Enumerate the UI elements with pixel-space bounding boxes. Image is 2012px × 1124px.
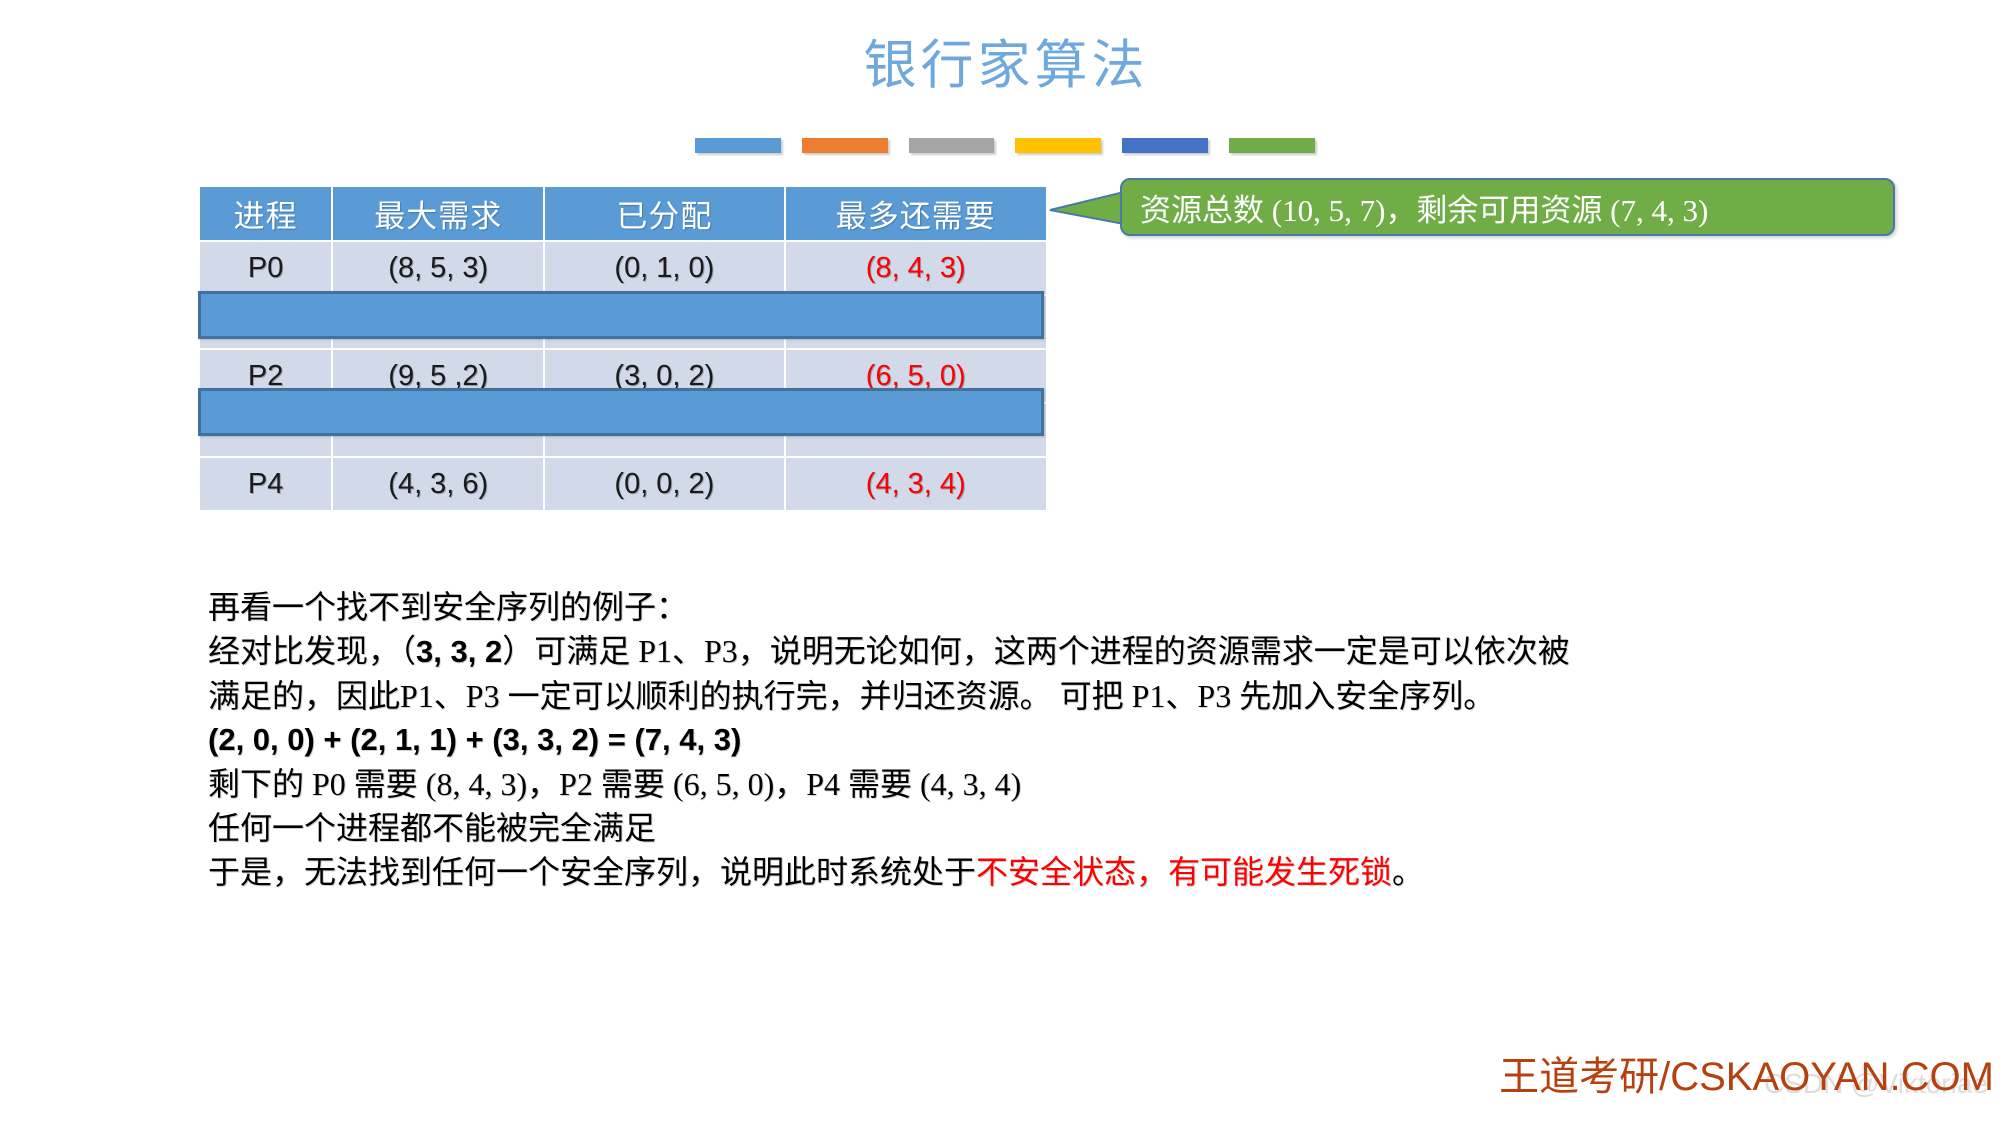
accent-bar-group	[695, 138, 1315, 153]
body-line-7: 于是，无法找到任何一个安全序列，说明此时系统处于不安全状态，有可能发生死锁。	[208, 850, 1928, 894]
table-row: P4 (4, 3, 6) (0, 0, 2) (4, 3, 4)	[200, 458, 1046, 510]
accent-bar-blue-dark-icon	[1122, 138, 1208, 153]
cell-need: (8, 4, 3)	[786, 242, 1046, 294]
cell-max: (4, 3, 6)	[333, 458, 543, 510]
body-line-4-equation: (2, 0, 0) + (2, 1, 1) + (3, 3, 2) = (7, …	[208, 718, 1928, 762]
body-line-2-prefix: 经对比发现，（	[208, 633, 416, 669]
body-line-2: 经对比发现，（3, 3, 2）可满足 P1、P3，说明无论如何，这两个进程的资源…	[208, 629, 1928, 674]
body-line-3: 满足的，因此P1、P3 一定可以顺利的执行完，并归还资源。 可把 P1、P3 先…	[208, 674, 1928, 718]
cell-need: (4, 3, 4)	[786, 458, 1046, 510]
body-line-6: 任何一个进程都不能被完全满足	[208, 806, 1928, 850]
body-line-5-remaining: 剩下的 P0 需要 (8, 4, 3)，P2 需要 (6, 5, 0)，P4 需…	[208, 762, 1928, 806]
body-line-7-highlight: 不安全状态，有可能发生死锁	[976, 854, 1392, 890]
cell-process: P4	[200, 458, 331, 510]
column-header-process: 进程	[200, 187, 331, 240]
column-header-still-need: 最多还需要	[786, 187, 1046, 240]
cell-allocated: (0, 0, 2)	[545, 458, 783, 510]
cell-max: (8, 5, 3)	[333, 242, 543, 294]
resource-total-callout: 资源总数 (10, 5, 7)，剩余可用资源 (7, 4, 3)	[1120, 178, 1895, 236]
accent-bar-orange-icon	[802, 138, 888, 153]
page-title: 银行家算法	[0, 34, 2012, 98]
accent-bar-gold-icon	[1015, 138, 1101, 153]
explanation-text-block: 再看一个找不到安全序列的例子： 经对比发现，（3, 3, 2）可满足 P1、P3…	[208, 585, 1928, 894]
column-header-allocated: 已分配	[545, 187, 783, 240]
accent-bar-green-icon	[1229, 138, 1315, 153]
body-line-2-suffix: ）可满足 P1、P3，说明无论如何，这两个进程的资源需求一定是可以依次被	[502, 633, 1570, 669]
body-line-7-suffix: 。	[1392, 854, 1424, 890]
callout-label: 资源总数 (10, 5, 7)，剩余可用资源 (7, 4, 3)	[1140, 185, 1708, 230]
footer-brand: 王道考研/CSKAOYAN.COM	[1499, 1044, 1994, 1102]
cell-allocated: (0, 1, 0)	[545, 242, 783, 294]
resource-allocation-table: 进程 最大需求 已分配 最多还需要 P0 (8, 5, 3) (0, 1, 0)…	[198, 185, 1048, 512]
table-row: P0 (8, 5, 3) (0, 1, 0) (8, 4, 3)	[200, 242, 1046, 294]
body-line-7-prefix: 于是，无法找到任何一个安全序列，说明此时系统处于	[208, 854, 976, 890]
column-header-max-need: 最大需求	[333, 187, 543, 240]
accent-bar-gray-icon	[909, 138, 995, 153]
body-line-2-vector: 3, 3, 2	[416, 634, 502, 669]
row-cover-band-p1	[198, 291, 1044, 339]
cell-process: P0	[200, 242, 331, 294]
accent-bar-blue-light-icon	[695, 138, 781, 153]
body-line-1: 再看一个找不到安全序列的例子：	[208, 585, 1928, 629]
table-header-row: 进程 最大需求 已分配 最多还需要	[200, 187, 1046, 240]
row-cover-band-p3	[198, 388, 1044, 436]
callout-pointer-icon	[1048, 190, 1124, 226]
